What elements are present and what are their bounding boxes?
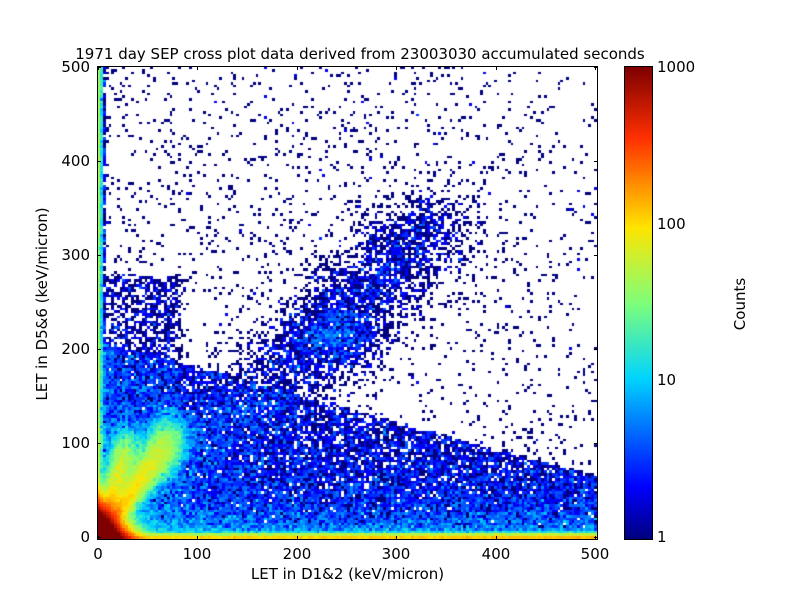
density-heatmap — [98, 67, 597, 539]
x-axis-label: LET in D1&2 (keV/micron) — [97, 565, 598, 583]
colorbar-tick-label-1: 1 — [657, 528, 667, 546]
x-tick-label-200: 200 — [267, 545, 327, 563]
colorbar-tick-label-100: 100 — [657, 215, 686, 233]
x-tick-400 — [496, 536, 497, 540]
colorbar-tick-label-1000: 1000 — [657, 58, 695, 76]
x-tick-200 — [297, 66, 298, 70]
y-tick-100 — [97, 443, 101, 444]
colorbar — [624, 66, 653, 540]
x-tick-label-500: 500 — [565, 545, 625, 563]
x-tick-label-400: 400 — [466, 545, 526, 563]
y-axis-label: LET in D5&6 (keV/micron) — [33, 154, 51, 454]
y-tick-300 — [594, 255, 598, 256]
figure-canvas: 1971 day SEP cross plot data derived fro… — [0, 0, 800, 600]
plot-axes-area — [97, 66, 598, 540]
x-tick-400 — [496, 66, 497, 70]
y-tick-label-500: 500 — [38, 58, 90, 76]
x-tick-label-300: 300 — [366, 545, 426, 563]
x-tick-label-0: 0 — [68, 545, 128, 563]
y-tick-500 — [97, 67, 101, 68]
x-tick-300 — [396, 66, 397, 70]
x-tick-label-100: 100 — [167, 545, 227, 563]
title-line-1: 1971 day SEP cross plot data derived fro… — [0, 45, 720, 64]
y-tick-100 — [594, 443, 598, 444]
y-tick-200 — [594, 349, 598, 350]
colorbar-tick-label-10: 10 — [657, 371, 676, 389]
y-tick-500 — [594, 67, 598, 68]
colorbar-label: Counts — [731, 204, 749, 404]
y-tick-label-0: 0 — [38, 528, 90, 546]
y-tick-300 — [97, 255, 101, 256]
x-tick-200 — [297, 536, 298, 540]
y-tick-0 — [97, 537, 101, 538]
y-tick-0 — [594, 537, 598, 538]
x-tick-300 — [396, 536, 397, 540]
y-tick-400 — [97, 161, 101, 162]
y-tick-200 — [97, 349, 101, 350]
x-tick-100 — [197, 66, 198, 70]
x-tick-100 — [197, 536, 198, 540]
y-tick-400 — [594, 161, 598, 162]
colorbar-gradient — [625, 67, 652, 539]
